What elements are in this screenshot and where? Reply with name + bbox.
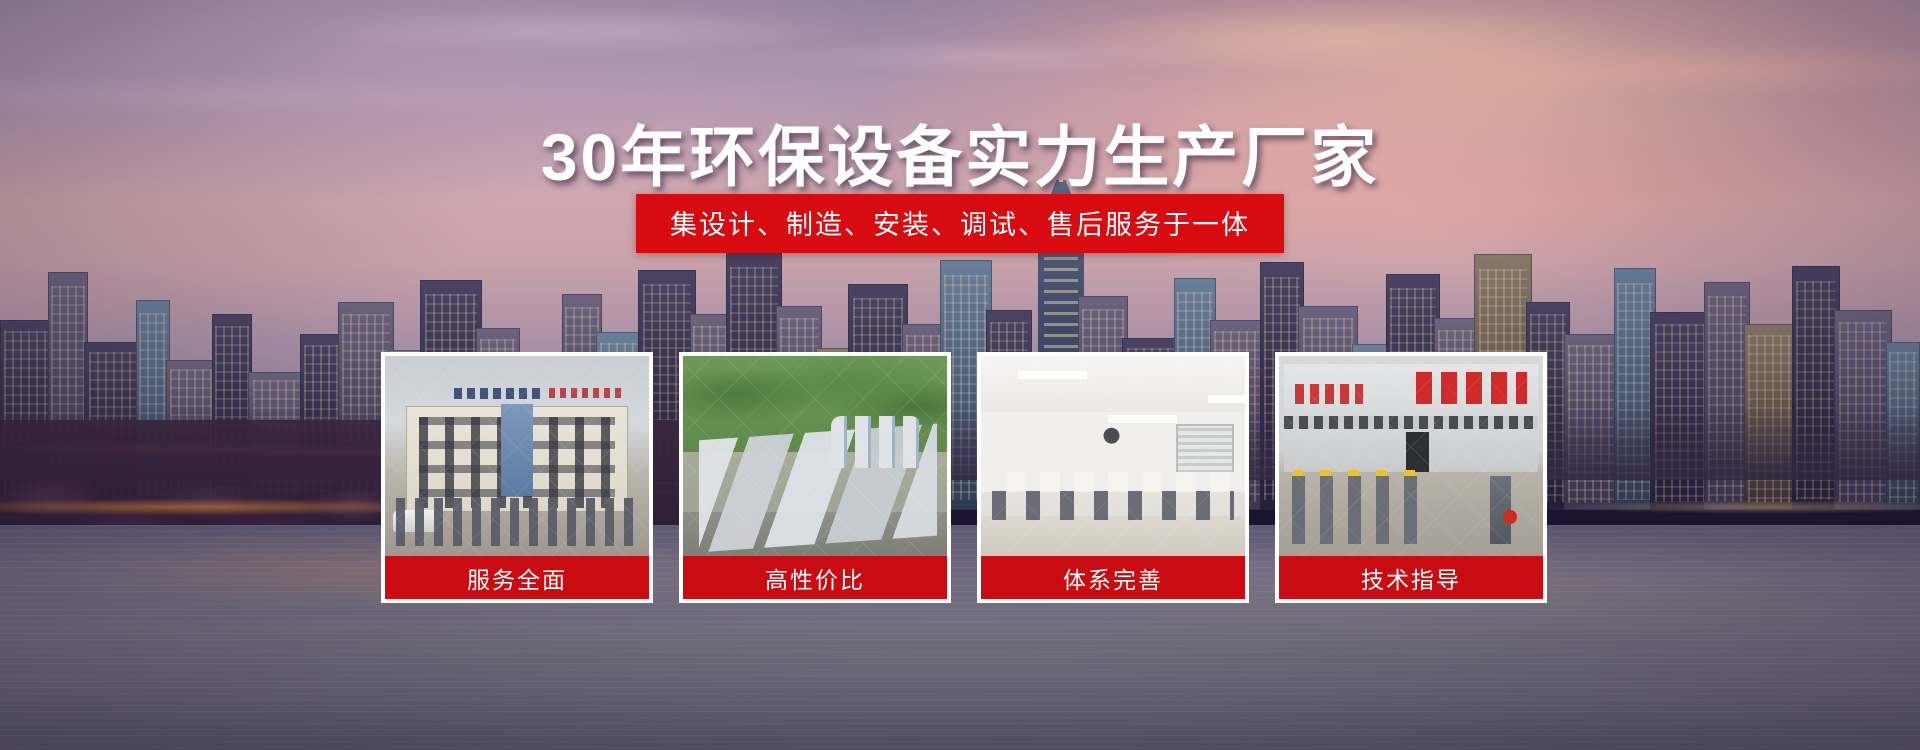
factory-slogan-text-secondary xyxy=(1295,384,1364,404)
feature-card[interactable]: 技术指导 xyxy=(1275,352,1547,603)
aerial-production-plant-photo xyxy=(679,352,951,556)
banner-subtitle-ribbon: 集设计、制造、安装、调试、售后服务于一体 xyxy=(636,194,1284,253)
building-sign-logo xyxy=(454,388,544,399)
office-interior-team-photo xyxy=(977,352,1249,556)
factory-slogan-text xyxy=(1416,372,1527,404)
banner-headline: 30年环保设备实力生产厂家 xyxy=(0,104,1920,200)
feature-card-label: 体系完善 xyxy=(977,556,1249,603)
feature-card-label: 技术指导 xyxy=(1275,556,1547,603)
hero-banner: 30年环保设备实力生产厂家 集设计、制造、安装、调试、售后服务于一体 服务全面 xyxy=(0,0,1920,750)
red-helmet-icon xyxy=(1503,510,1516,524)
building-phone-number xyxy=(549,388,623,398)
feature-card-list: 服务全面 高性价比 体系完善 xyxy=(381,352,1547,603)
feature-card[interactable]: 服务全面 xyxy=(381,352,653,603)
factory-workers-briefing-photo xyxy=(1275,352,1547,556)
feature-card[interactable]: 高性价比 xyxy=(679,352,951,603)
company-headquarters-building-photo xyxy=(381,352,653,556)
banner-content: 30年环保设备实力生产厂家 集设计、制造、安装、调试、售后服务于一体 服务全面 xyxy=(0,0,1920,750)
feature-card-label: 服务全面 xyxy=(381,556,653,603)
feature-card[interactable]: 体系完善 xyxy=(977,352,1249,603)
feature-card-label: 高性价比 xyxy=(679,556,951,603)
